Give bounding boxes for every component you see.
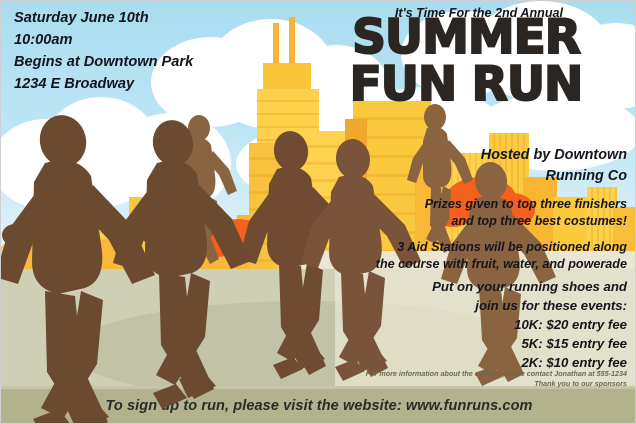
event-date: Saturday June 10th	[14, 7, 274, 29]
page-title: SUMMER FUN RUN	[301, 16, 631, 106]
race-option-5k: 5K: $15 entry fee	[327, 334, 627, 353]
prizes-line-2: and top three best costumes!	[327, 213, 627, 230]
host-line-1: Hosted by Downtown	[327, 145, 627, 166]
event-details-block: Saturday June 10th 10:00am Begins at Dow…	[14, 7, 274, 95]
fineprint-sponsors: Thank you to our sponsors	[327, 379, 627, 389]
aid-stations-line-2: the course with fruit, water, and powera…	[327, 256, 627, 273]
aid-stations-line-1: 3 Aid Stations will be positioned along	[327, 239, 627, 256]
event-start-location: Begins at Downtown Park	[14, 51, 274, 73]
cta-line-2: join us for these events:	[327, 296, 627, 315]
host-line-2: Running Co	[327, 166, 627, 187]
event-address: 1234 E Broadway	[14, 73, 274, 95]
title-line-2: FUN RUN	[301, 63, 631, 106]
summer-fun-run-poster: Saturday June 10th 10:00am Begins at Dow…	[0, 0, 636, 424]
title-line-1: SUMMER	[301, 16, 631, 59]
event-time: 10:00am	[14, 29, 274, 51]
fineprint-block: For more information about the course, p…	[327, 369, 627, 389]
race-option-10k: 10K: $20 entry fee	[327, 315, 627, 334]
right-info-block: Hosted by Downtown Running Co Prizes giv…	[327, 145, 627, 372]
cta-line-1: Put on your running shoes and	[327, 277, 627, 296]
fineprint-contact: For more information about the course, p…	[327, 369, 627, 379]
prizes-line-1: Prizes given to top three finishers	[327, 196, 627, 213]
